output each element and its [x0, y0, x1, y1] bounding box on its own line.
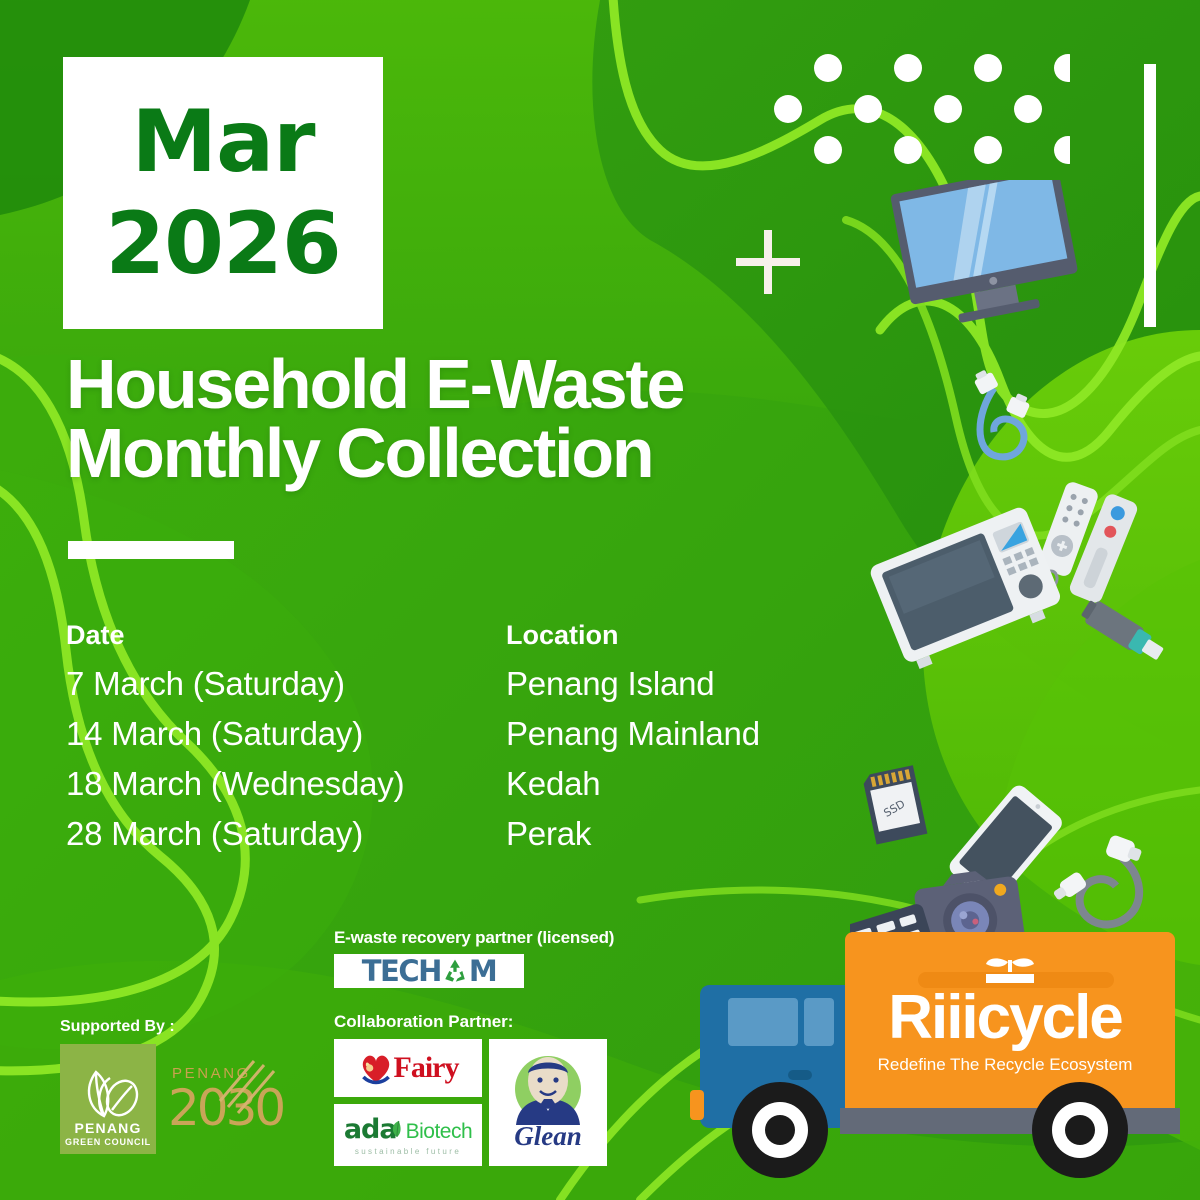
truck-chassis	[840, 1108, 1180, 1134]
cell-location: Perak	[506, 815, 591, 853]
truck-wheel-rear	[1032, 1082, 1128, 1178]
ada-biotech-logo: ada Biotech sustainable future	[334, 1104, 482, 1166]
table-row: 18 March (Wednesday) Kedah	[66, 765, 866, 803]
techom-logo: TECH M	[334, 954, 524, 988]
table-body: 7 March (Saturday) Penang Island 14 Marc…	[66, 665, 866, 853]
cell-date: 18 March (Wednesday)	[66, 765, 506, 803]
truck-brand-text: Riiicycle	[888, 983, 1122, 1052]
collaboration-left-column: Fairy ada Biotech sustainable future	[334, 1039, 482, 1166]
table-row: 7 March (Saturday) Penang Island	[66, 665, 866, 703]
collaboration-logos: Fairy ada Biotech sustainable future	[334, 1039, 614, 1166]
fairy-text: Fairy	[394, 1051, 459, 1085]
ada-biotech-wordmark: ada Biotech	[344, 1114, 472, 1145]
ssd-card-icon: SSD	[862, 765, 927, 844]
truck-wheel-front	[732, 1082, 828, 1178]
penang-2030-logo: PENANG 2030	[166, 1051, 286, 1147]
penang-green-council-logo: PENANG GREEN COUNCIL	[60, 1044, 156, 1154]
cell-location: Penang Island	[506, 665, 714, 703]
supported-by-block: Supported By : PENANG GREEN COUNCIL PENA…	[60, 1018, 320, 1154]
column-header-date: Date	[66, 620, 506, 651]
table-row: 28 March (Saturday) Perak	[66, 815, 866, 853]
plus-icon	[733, 227, 803, 297]
title-line-1: Household E-Waste	[66, 350, 886, 419]
biotech-text: Biotech	[406, 1120, 473, 1144]
cell-location: Kedah	[506, 765, 600, 803]
recycling-truck: Riiicycle Redefine The Recycle Ecosystem	[690, 930, 1200, 1200]
ethernet-cable-icon	[971, 367, 1032, 457]
cell-date: 7 March (Saturday)	[66, 665, 506, 703]
pgc-name: PENANG	[74, 1120, 141, 1136]
techom-text-part1: TECH	[362, 954, 441, 988]
badge-month: Mar	[131, 99, 314, 185]
table-header-row: Date Location	[66, 620, 866, 651]
power-cable-icon	[1051, 834, 1144, 924]
truck-tagline-text: Redefine The Recycle Ecosystem	[878, 1055, 1133, 1074]
cell-location: Penang Mainland	[506, 715, 760, 753]
table-row: 14 March (Saturday) Penang Mainland	[66, 715, 866, 753]
schedule-table: Date Location 7 March (Saturday) Penang …	[66, 620, 866, 865]
collaboration-partner-block: Collaboration Partner: Fairy ada	[334, 1012, 614, 1166]
monitor-icon	[890, 180, 1083, 331]
title-underline-rule	[68, 541, 234, 559]
ada-tagline: sustainable future	[355, 1147, 461, 1156]
usb-drive-icon	[1079, 597, 1167, 666]
page-title: Household E-Waste Monthly Collection	[66, 350, 886, 487]
recycle-icon	[442, 958, 468, 984]
mascot-icon: Glean	[500, 1047, 596, 1159]
techom-text-part2: M	[469, 954, 496, 988]
glean-wordmark: Glean	[514, 1121, 582, 1151]
pgc-subtitle: GREEN COUNCIL	[65, 1137, 151, 1147]
leaf-icon	[74, 1064, 142, 1120]
column-header-location: Location	[506, 620, 619, 651]
leaf-icon	[389, 1120, 405, 1138]
heart-fairy-icon	[358, 1050, 394, 1086]
supported-by-logos: PENANG GREEN COUNCIL PENANG 2030	[60, 1044, 320, 1154]
penang-2030-stripes	[212, 1057, 286, 1141]
dot-grid	[770, 50, 1070, 180]
cell-date: 14 March (Saturday)	[66, 715, 506, 753]
title-line-2: Monthly Collection	[66, 419, 886, 488]
glean-logo: Glean	[489, 1039, 607, 1166]
supported-by-caption: Supported By :	[60, 1018, 320, 1036]
collaboration-caption: Collaboration Partner:	[334, 1012, 614, 1032]
microwave-icon	[868, 505, 1066, 673]
e-waste-devices: SSD	[850, 180, 1200, 940]
recovery-partner-caption: E-waste recovery partner (licensed)	[334, 928, 614, 948]
poster-canvas: SSD	[0, 0, 1200, 1200]
recovery-partner-block: E-waste recovery partner (licensed) TECH…	[334, 928, 614, 988]
badge-year: 2026	[105, 201, 340, 287]
fairy-logo: Fairy	[334, 1039, 482, 1097]
cell-date: 28 March (Saturday)	[66, 815, 506, 853]
date-badge: Mar 2026	[63, 57, 383, 329]
